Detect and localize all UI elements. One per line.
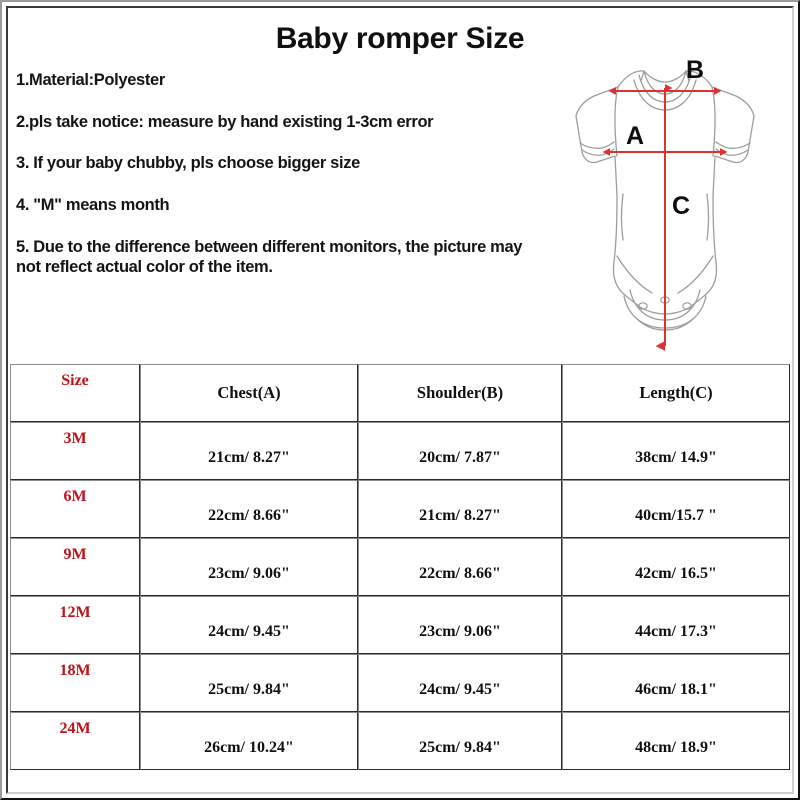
- diagram-label-c: C: [672, 192, 690, 220]
- cell-chest: 26cm/ 10.24": [140, 712, 358, 770]
- table-row: 9M 23cm/ 9.06" 22cm/ 8.66" 42cm/ 16.5": [10, 538, 790, 596]
- cell-length: 46cm/ 18.1": [562, 654, 790, 712]
- table-row: 18M 25cm/ 9.84" 24cm/ 9.45" 46cm/ 18.1": [10, 654, 790, 712]
- size-table: Size Chest(A) Shoulder(B) Length(C) 3M 2…: [10, 364, 790, 770]
- romper-measurement-diagram: B A C: [540, 44, 790, 362]
- size-table-container: Size Chest(A) Shoulder(B) Length(C) 3M 2…: [10, 364, 790, 790]
- cell-shoulder: 21cm/ 8.27": [358, 480, 562, 538]
- notes-list: 1.Material:Polyester 2.pls take notice: …: [16, 70, 536, 278]
- cell-length: 48cm/ 18.9": [562, 712, 790, 770]
- note-item-2: 2.pls take notice: measure by hand exist…: [16, 112, 536, 133]
- cell-shoulder: 23cm/ 9.06": [358, 596, 562, 654]
- cell-shoulder: 24cm/ 9.45": [358, 654, 562, 712]
- cell-size: 18M: [10, 654, 140, 712]
- size-chart-page: Baby romper Size 1.Material:Polyester 2.…: [0, 0, 800, 800]
- cell-shoulder: 20cm/ 7.87": [358, 422, 562, 480]
- cell-chest: 24cm/ 9.45": [140, 596, 358, 654]
- cell-chest: 25cm/ 9.84": [140, 654, 358, 712]
- cell-shoulder: 25cm/ 9.84": [358, 712, 562, 770]
- table-row: 12M 24cm/ 9.45" 23cm/ 9.06" 44cm/ 17.3": [10, 596, 790, 654]
- diagram-label-b: B: [686, 56, 704, 84]
- cell-chest: 23cm/ 9.06": [140, 538, 358, 596]
- cell-length: 40cm/15.7 ": [562, 480, 790, 538]
- table-row: 3M 21cm/ 8.27" 20cm/ 7.87" 38cm/ 14.9": [10, 422, 790, 480]
- info-panel: Baby romper Size 1.Material:Polyester 2.…: [10, 10, 790, 358]
- cell-size: 6M: [10, 480, 140, 538]
- note-item-4: 4. "M" means month: [16, 195, 536, 216]
- diagram-label-a: A: [626, 122, 644, 150]
- note-item-5: 5. Due to the difference between differe…: [16, 237, 536, 278]
- cell-chest: 21cm/ 8.27": [140, 422, 358, 480]
- cell-size: 9M: [10, 538, 140, 596]
- header-chest: Chest(A): [140, 364, 358, 422]
- cell-length: 44cm/ 17.3": [562, 596, 790, 654]
- cell-size: 24M: [10, 712, 140, 770]
- cell-size: 3M: [10, 422, 140, 480]
- table-row: 24M 26cm/ 10.24" 25cm/ 9.84" 48cm/ 18.9": [10, 712, 790, 770]
- note-item-3: 3. If your baby chubby, pls choose bigge…: [16, 153, 536, 174]
- header-shoulder: Shoulder(B): [358, 364, 562, 422]
- cell-shoulder: 22cm/ 8.66": [358, 538, 562, 596]
- cell-length: 42cm/ 16.5": [562, 538, 790, 596]
- cell-chest: 22cm/ 8.66": [140, 480, 358, 538]
- cell-length: 38cm/ 14.9": [562, 422, 790, 480]
- note-item-1: 1.Material:Polyester: [16, 70, 536, 91]
- header-length: Length(C): [562, 364, 790, 422]
- table-row: 6M 22cm/ 8.66" 21cm/ 8.27" 40cm/15.7 ": [10, 480, 790, 538]
- cell-size: 12M: [10, 596, 140, 654]
- table-header-row: Size Chest(A) Shoulder(B) Length(C): [10, 364, 790, 422]
- header-size: Size: [10, 364, 140, 422]
